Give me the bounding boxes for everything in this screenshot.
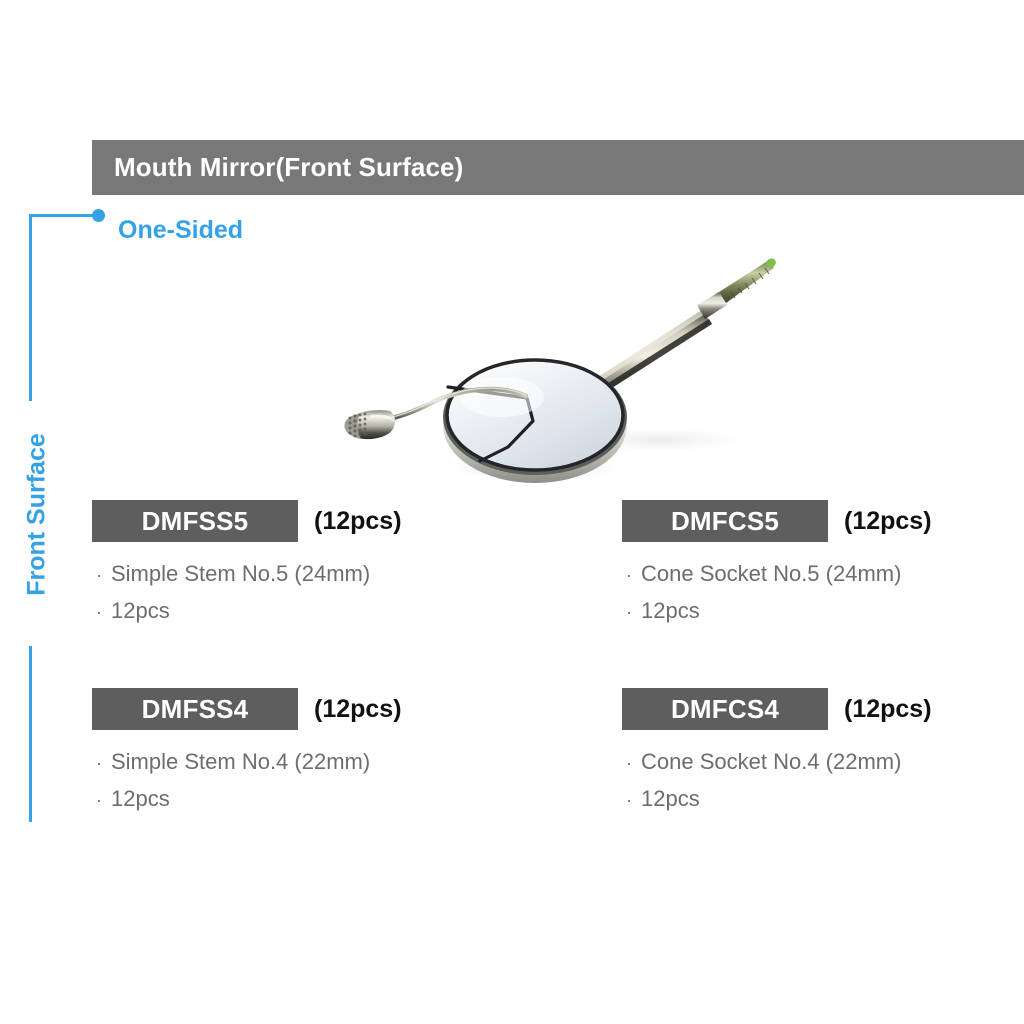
bracket-top-horizontal-line <box>29 214 97 217</box>
product-code: DMFSS4 <box>142 694 249 725</box>
list-item: · 12pcs <box>96 781 402 818</box>
mouth-mirror-illustration <box>330 235 875 490</box>
product-qty: (12pcs) <box>314 507 402 536</box>
product-bullets: · Cone Socket No.4 (22mm) · 12pcs <box>622 744 932 818</box>
bracket-vertical-line-upper <box>29 214 32 401</box>
bullet-dot-icon: · <box>626 745 632 781</box>
list-item: · 12pcs <box>96 593 402 630</box>
mirror-head <box>443 359 627 483</box>
bullet-dot-icon: · <box>96 594 102 630</box>
product-code-box: DMFSS4 <box>92 688 298 730</box>
bullet-text: 12pcs <box>111 593 170 629</box>
bullet-text: Cone Socket No.4 (22mm) <box>641 744 901 780</box>
product-head: DMFSS5 (12pcs) <box>92 500 402 542</box>
product-code: DMFSS5 <box>142 506 249 537</box>
product-head: DMFCS4 (12pcs) <box>622 688 932 730</box>
product-code-box: DMFCS5 <box>622 500 828 542</box>
product-head: DMFCS5 (12pcs) <box>622 500 932 542</box>
product-head: DMFSS4 (12pcs) <box>92 688 402 730</box>
product-qty: (12pcs) <box>844 695 932 724</box>
product-block-dmfcs4: DMFCS4 (12pcs) · Cone Socket No.4 (22mm)… <box>622 688 932 818</box>
product-bullets: · Simple Stem No.5 (24mm) · 12pcs <box>92 556 402 630</box>
bullet-dot-icon: · <box>626 594 632 630</box>
product-block-dmfcs5: DMFCS5 (12pcs) · Cone Socket No.5 (24mm)… <box>622 500 932 630</box>
product-bullets: · Simple Stem No.4 (22mm) · 12pcs <box>92 744 402 818</box>
list-item: · Simple Stem No.5 (24mm) <box>96 556 402 593</box>
bullet-dot-icon: · <box>96 745 102 781</box>
bullet-text: Simple Stem No.4 (22mm) <box>111 744 370 780</box>
page-title: Mouth Mirror(Front Surface) <box>92 152 463 183</box>
product-code-box: DMFCS4 <box>622 688 828 730</box>
front-surface-vertical-label: Front Surface <box>23 415 52 615</box>
bracket-dot-icon <box>92 209 105 222</box>
product-block-dmfss4: DMFSS4 (12pcs) · Simple Stem No.4 (22mm)… <box>92 688 402 818</box>
bullet-text: Simple Stem No.5 (24mm) <box>111 556 370 592</box>
product-bullets: · Cone Socket No.5 (24mm) · 12pcs <box>622 556 932 630</box>
product-code: DMFCS5 <box>671 506 779 537</box>
list-item: · Cone Socket No.5 (24mm) <box>626 556 932 593</box>
bullet-dot-icon: · <box>96 782 102 818</box>
product-code-box: DMFSS5 <box>92 500 298 542</box>
bullet-dot-icon: · <box>626 782 632 818</box>
bracket-vertical-line-lower <box>29 646 32 822</box>
product-block-dmfss5: DMFSS5 (12pcs) · Simple Stem No.5 (24mm)… <box>92 500 402 630</box>
product-qty: (12pcs) <box>314 695 402 724</box>
list-item: · 12pcs <box>626 781 932 818</box>
list-item: · Cone Socket No.4 (22mm) <box>626 744 932 781</box>
bullet-text: 12pcs <box>641 781 700 817</box>
bullet-text: 12pcs <box>111 781 170 817</box>
bullet-dot-icon: · <box>96 557 102 593</box>
bullet-text: Cone Socket No.5 (24mm) <box>641 556 901 592</box>
bullet-dot-icon: · <box>626 557 632 593</box>
product-spec-sheet: Mouth Mirror(Front Surface) Front Surfac… <box>0 0 1024 1024</box>
list-item: · 12pcs <box>626 593 932 630</box>
one-sided-label: One-Sided <box>118 216 243 245</box>
knurled-cap <box>345 410 396 439</box>
bullet-text: 12pcs <box>641 593 700 629</box>
list-item: · Simple Stem No.4 (22mm) <box>96 744 402 781</box>
product-qty: (12pcs) <box>844 507 932 536</box>
product-code: DMFCS4 <box>671 694 779 725</box>
product-photo <box>330 235 875 490</box>
header-bar: Mouth Mirror(Front Surface) <box>92 140 1024 195</box>
